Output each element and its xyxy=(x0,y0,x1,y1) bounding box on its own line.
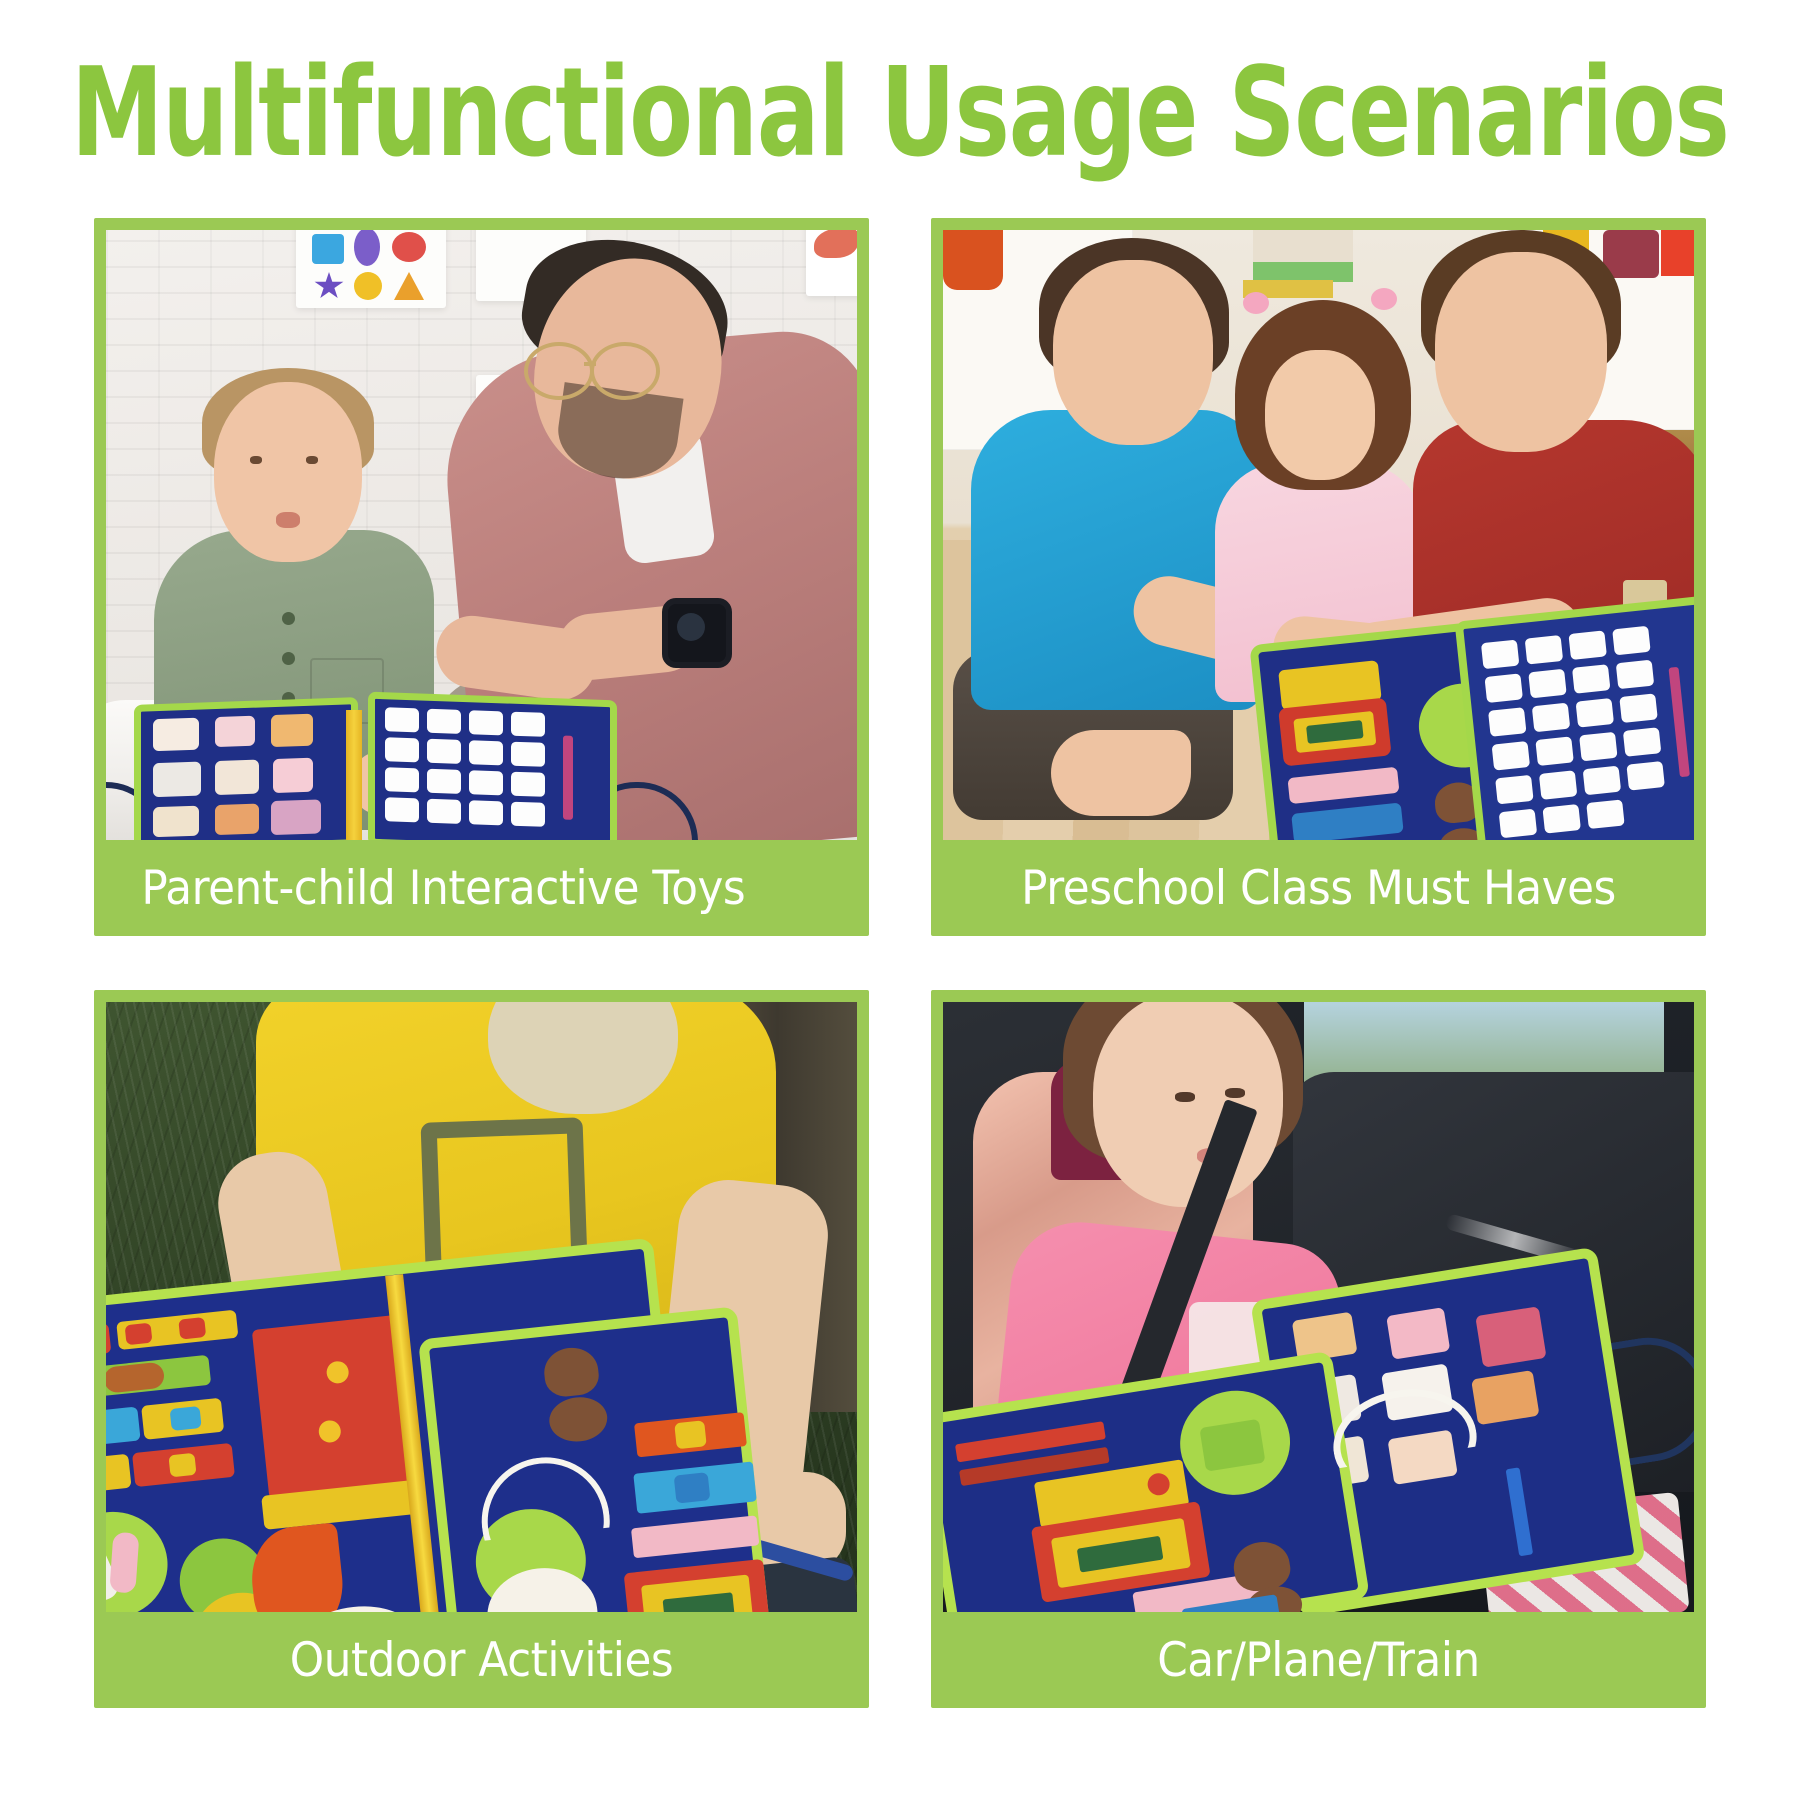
scenario-card-grid: Parent-child Interactive Toys xyxy=(94,218,1706,1708)
busy-board-right-page-alphabet xyxy=(368,692,617,840)
girl-head xyxy=(1265,350,1375,480)
scenario-photo-car-plane-train xyxy=(943,1002,1694,1612)
page-title: Multifunctional Usage Scenarios xyxy=(9,36,1791,189)
boy-blue-foot xyxy=(1051,730,1191,816)
shelf-item-cup xyxy=(1603,230,1659,278)
shelf-folded-linens xyxy=(1253,230,1353,264)
busy-board-right-page-alphabet xyxy=(1455,595,1694,840)
wall-poster-shapes xyxy=(296,230,446,308)
boy-blue-head xyxy=(1053,260,1213,445)
boy-head xyxy=(214,382,362,562)
girl-head xyxy=(1093,1002,1283,1207)
scenario-card-preschool-class[interactable]: Preschool Class Must Haves xyxy=(931,218,1706,936)
shelf-item-red-box xyxy=(1661,230,1694,276)
busy-board-zipper xyxy=(346,710,362,840)
scenario-caption-parent-child: Parent-child Interactive Toys xyxy=(106,840,804,936)
scenario-photo-preschool-class xyxy=(943,230,1694,840)
eyeglasses-right-lens xyxy=(590,342,660,400)
shelf-item-orange-vase xyxy=(943,230,1003,290)
eyeglasses-left-lens xyxy=(524,342,594,400)
boy-red-head xyxy=(1435,252,1607,452)
busy-board-right-page xyxy=(418,1306,774,1612)
shelf-green-linen xyxy=(1253,262,1353,282)
wall-poster-bird xyxy=(806,230,857,296)
girl-hair-tie-right xyxy=(1371,288,1397,310)
girl-hair-tie-left xyxy=(1243,292,1269,314)
scenario-card-outdoor[interactable]: Outdoor Activities xyxy=(94,990,869,1708)
busy-board-left-page xyxy=(134,697,358,840)
scenario-caption-preschool-class: Preschool Class Must Haves xyxy=(969,840,1667,936)
scenario-caption-outdoor: Outdoor Activities xyxy=(132,1612,830,1708)
scenario-card-car-plane-train[interactable]: Car/Plane/Train xyxy=(931,990,1706,1708)
scenario-caption-car-plane-train: Car/Plane/Train xyxy=(969,1612,1667,1708)
scenario-card-parent-child[interactable]: Parent-child Interactive Toys xyxy=(94,218,869,936)
wristwatch xyxy=(662,598,732,668)
eyeglasses-bridge xyxy=(584,362,596,366)
scenario-photo-parent-child xyxy=(106,230,857,840)
scenario-photo-outdoor xyxy=(106,1002,857,1612)
